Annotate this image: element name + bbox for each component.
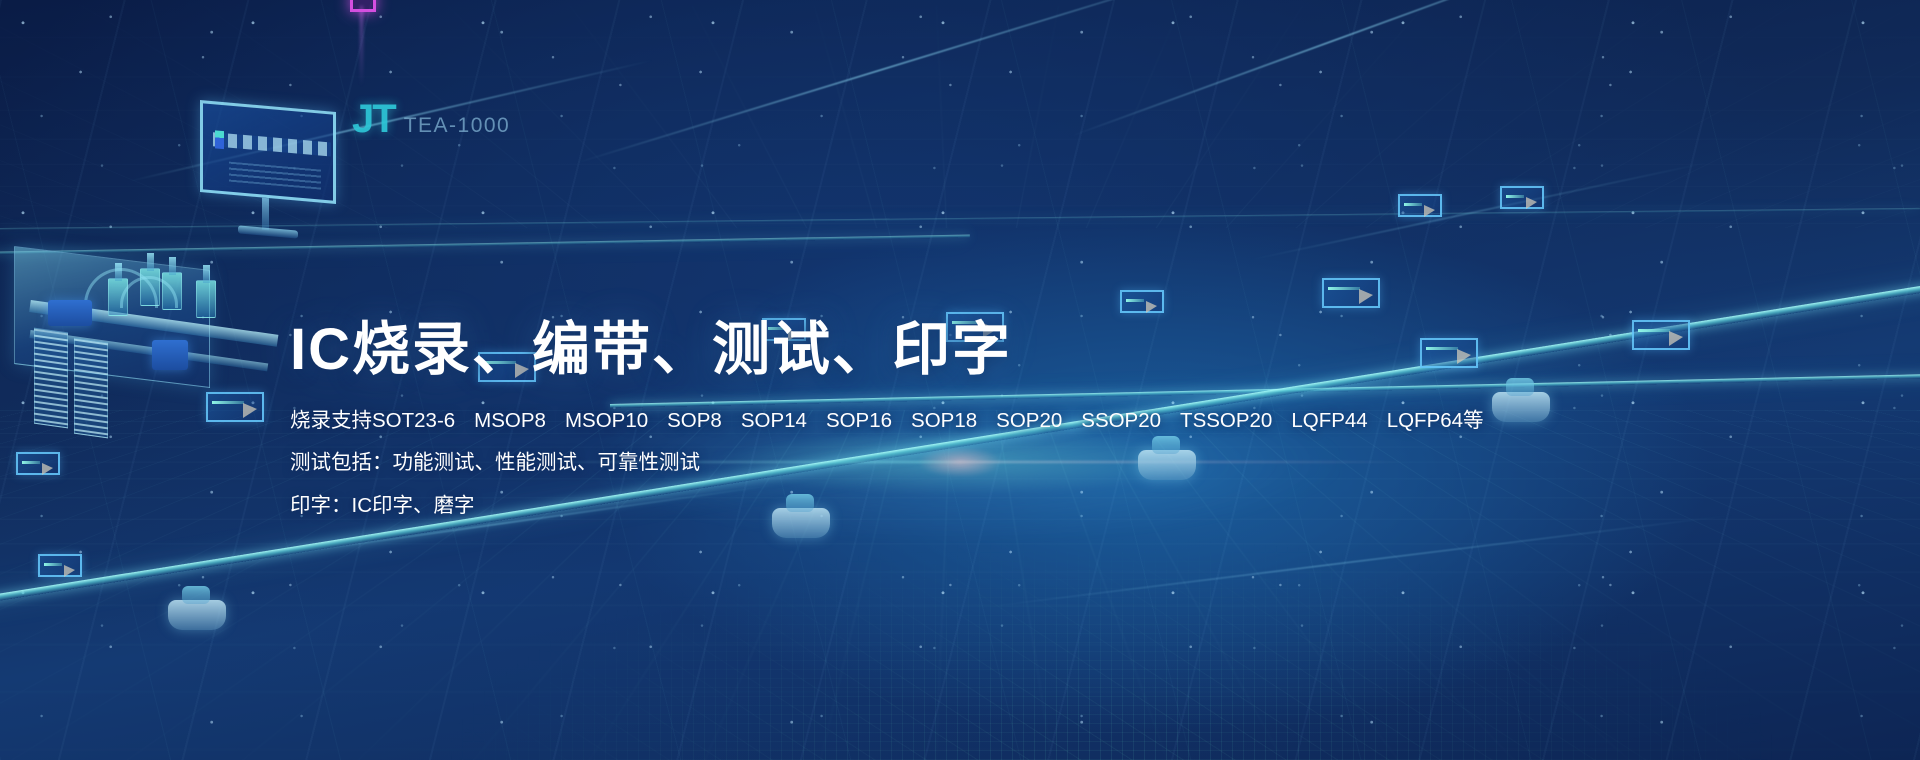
testing-scope-line: 测试包括：功能测试、性能测试、可靠性测试 [290, 453, 1590, 474]
monitor-screen [200, 100, 336, 204]
machine-fin [74, 338, 108, 439]
package-type: LQFP44 [1291, 409, 1367, 432]
banner-subtext-group: 烧录支持SOT23-6MSOP8MSOP10SOP8SOP14SOP16SOP1… [290, 411, 1590, 517]
package-type: MSOP8 [474, 409, 546, 432]
burn-support-label: 烧录支持SOT23-6 [290, 409, 455, 432]
package-type: TSSOP20 [1180, 409, 1272, 432]
workstation-monitor [200, 106, 336, 198]
package-type: SOP20 [996, 409, 1062, 432]
control-module [48, 300, 92, 326]
control-module [152, 340, 188, 370]
tray-card [38, 554, 82, 577]
screen-line-rows [229, 162, 321, 190]
chip-strip-graphic [213, 132, 331, 156]
hero-banner: JT TEA-1000 IC烧录、编带、测试、印字 烧录支持SOT23-6MSO… [0, 0, 1920, 760]
package-type-list: MSOP8MSOP10SOP8SOP14SOP16SOP18SOP20SSOP2… [474, 409, 1483, 432]
package-type: SOP8 [667, 409, 722, 432]
package-type: LQFP64等 [1387, 409, 1484, 432]
page-title: IC烧录、编带、测试、印字 [290, 318, 1590, 383]
package-type: MSOP10 [565, 409, 648, 432]
tray-card [1398, 194, 1442, 217]
marking-scope-line: 印字：IC印字、磨字 [290, 496, 1590, 517]
tray-card [1322, 278, 1380, 308]
package-type: SSOP20 [1081, 409, 1161, 432]
package-type: SOP14 [741, 409, 807, 432]
monitor-stand [262, 198, 269, 231]
package-type: SOP18 [911, 409, 977, 432]
banner-copy-block: IC烧录、编带、测试、印字 烧录支持SOT23-6MSOP8MSOP10SOP8… [290, 318, 1590, 538]
tray-card [206, 392, 264, 422]
tray-card [1632, 320, 1690, 350]
equipment-logo-watermark: JT TEA-1000 [352, 99, 510, 139]
magenta-indicator-icon [350, 0, 376, 12]
pink-light-beam [360, 6, 363, 86]
roller-foot [168, 600, 226, 630]
machine-fin [34, 328, 68, 429]
package-type: SOP16 [826, 409, 892, 432]
logo-brand-text: JT [352, 99, 395, 139]
tray-card [1120, 290, 1164, 313]
tray-card [1500, 186, 1544, 209]
burn-support-line: 烧录支持SOT23-6MSOP8MSOP10SOP8SOP14SOP16SOP1… [290, 411, 1590, 432]
chip-accent-marker [215, 130, 224, 149]
tray-card [16, 452, 60, 475]
piston [196, 280, 216, 318]
logo-model-text: TEA-1000 [404, 115, 511, 136]
